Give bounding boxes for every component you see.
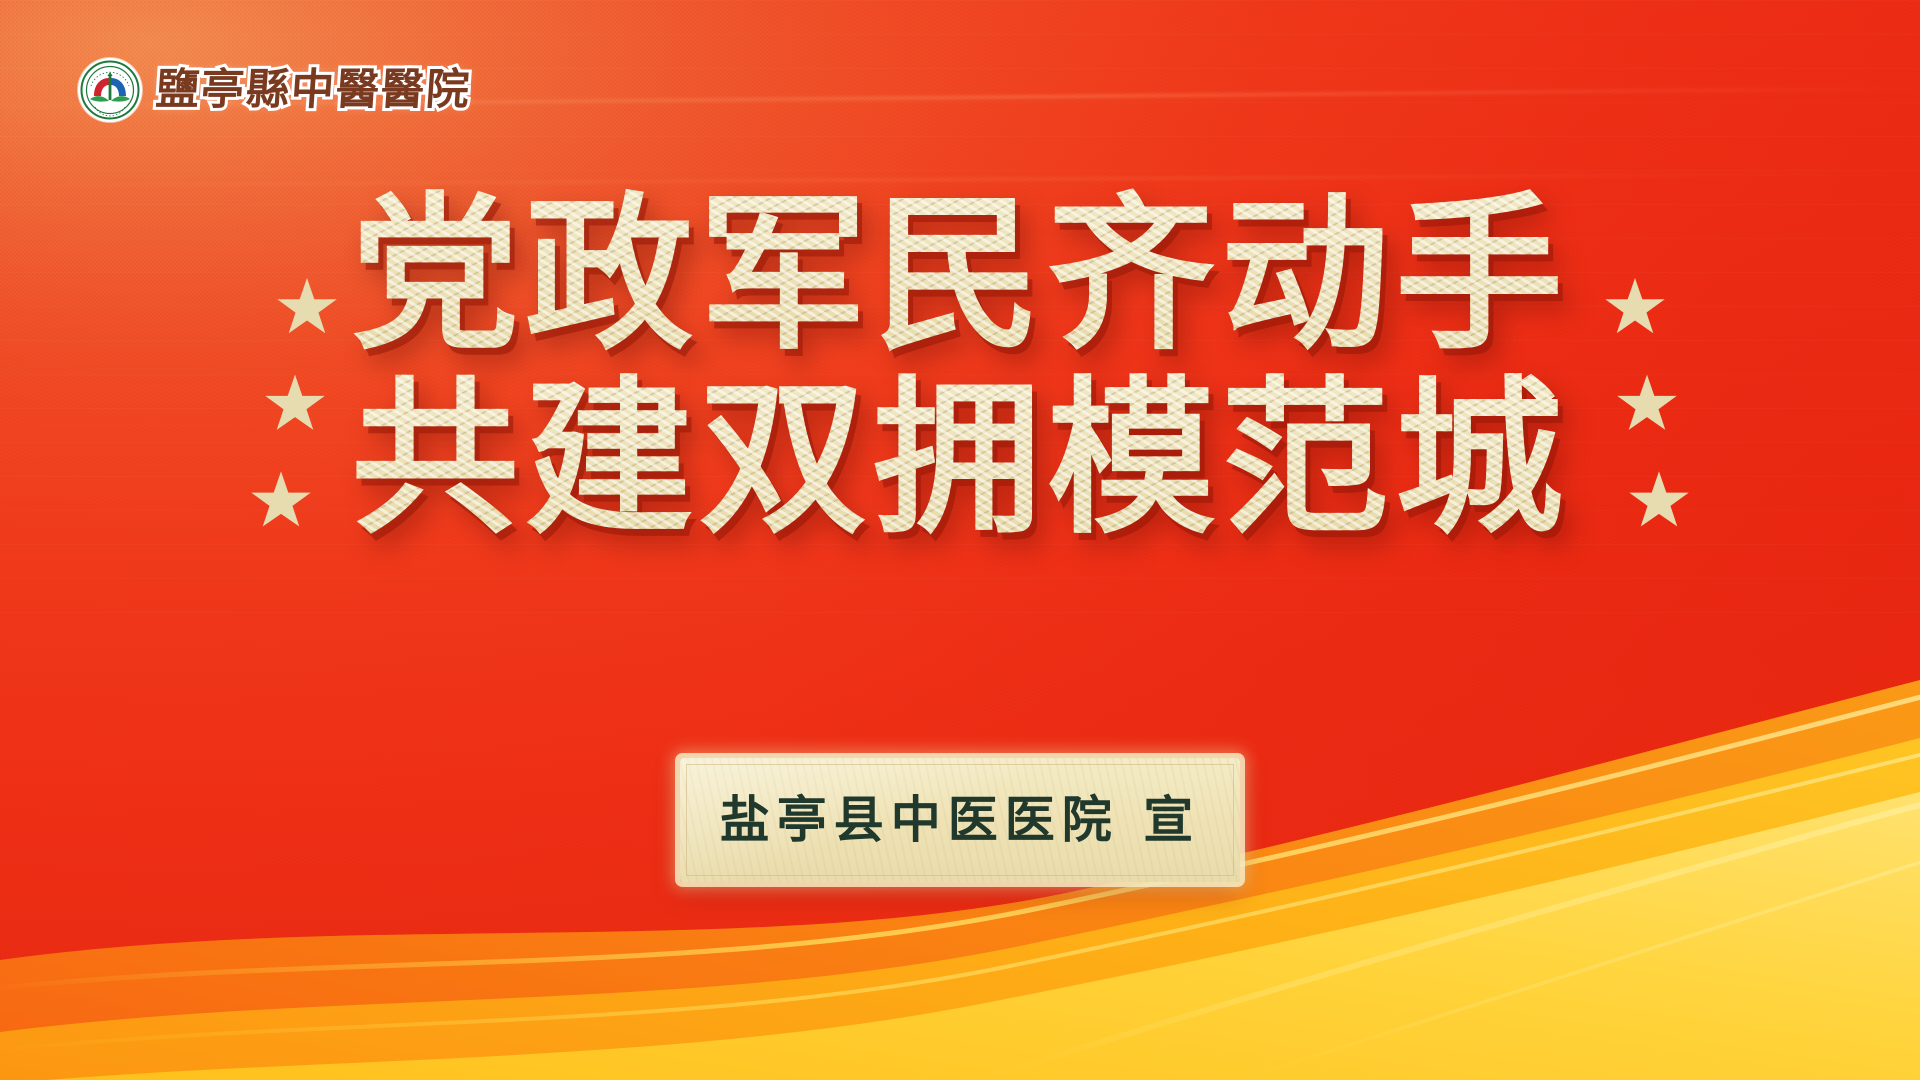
hospital-emblem-icon	[78, 58, 142, 122]
signature-plaque: 盐亭县中医医院 宣	[680, 758, 1240, 882]
slogan-line-1-row: 党政军民齐动手	[351, 186, 1569, 366]
slogan-headline: 党政军民齐动手 共建双拥模范城	[0, 186, 1920, 550]
slogan-line-2-row: 共建双拥模范城	[351, 370, 1569, 550]
slogan-line-2: 共建双拥模范城	[351, 370, 1569, 550]
hospital-name-traditional: 鹽亭縣中醫醫院	[154, 69, 472, 112]
signature-text: 盐亭县中医医院 宣	[720, 795, 1200, 845]
propaganda-poster: 鹽亭縣中醫醫院 党政军民齐动手 共建双拥模范城 盐亭县中医医院 宣	[0, 0, 1920, 1080]
hospital-brand: 鹽亭縣中醫醫院	[78, 58, 471, 122]
slogan-line-1: 党政军民齐动手	[351, 186, 1569, 366]
